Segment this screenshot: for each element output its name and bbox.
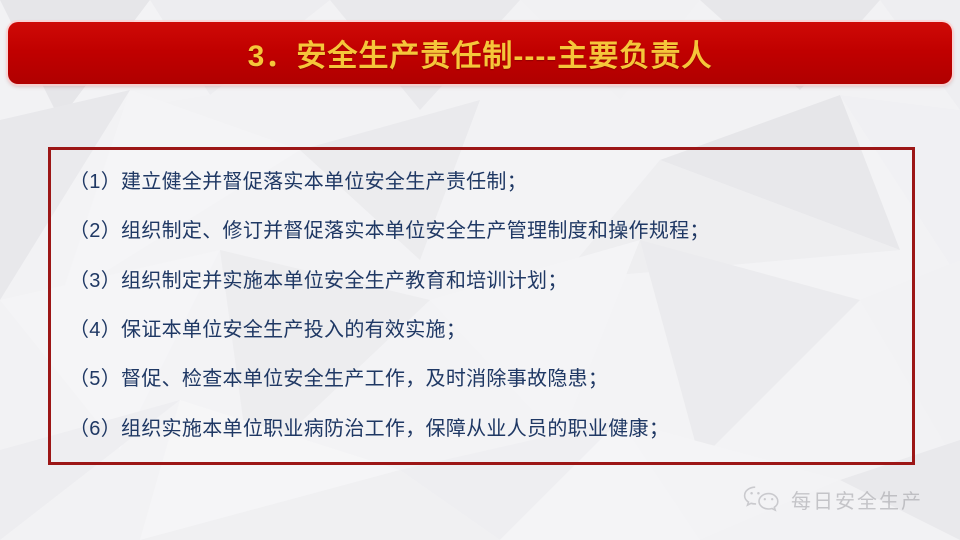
slide-canvas: 3．安全生产责任制----主要负责人 （1）建立健全并督促落实本单位安全生产责任… [0,0,960,540]
content-item-2: （2）组织制定、修订并督促落实本单位安全生产管理制度和操作规程； [69,219,896,244]
content-item-5: （5）督促、检查本单位安全生产工作，及时消除事故隐患； [69,367,896,392]
content-box: （1）建立健全并督促落实本单位安全生产责任制； （2）组织制定、修订并督促落实本… [48,147,915,465]
wechat-icon [742,484,782,514]
watermark: 每日安全生产 [742,484,923,514]
watermark-label: 每日安全生产 [791,485,923,514]
content-item-1: （1）建立健全并督促落实本单位安全生产责任制； [69,170,896,195]
content-item-6: （6）组织实施本单位职业病防治工作，保障从业人员的职业健康； [69,417,896,442]
slide-title-bar: 3．安全生产责任制----主要负责人 [8,22,952,84]
content-item-4: （4）保证本单位安全生产投入的有效实施； [69,318,896,343]
slide-title: 3．安全生产责任制----主要负责人 [248,31,713,75]
content-item-3: （3）组织制定并实施本单位安全生产教育和培训计划； [69,269,896,294]
